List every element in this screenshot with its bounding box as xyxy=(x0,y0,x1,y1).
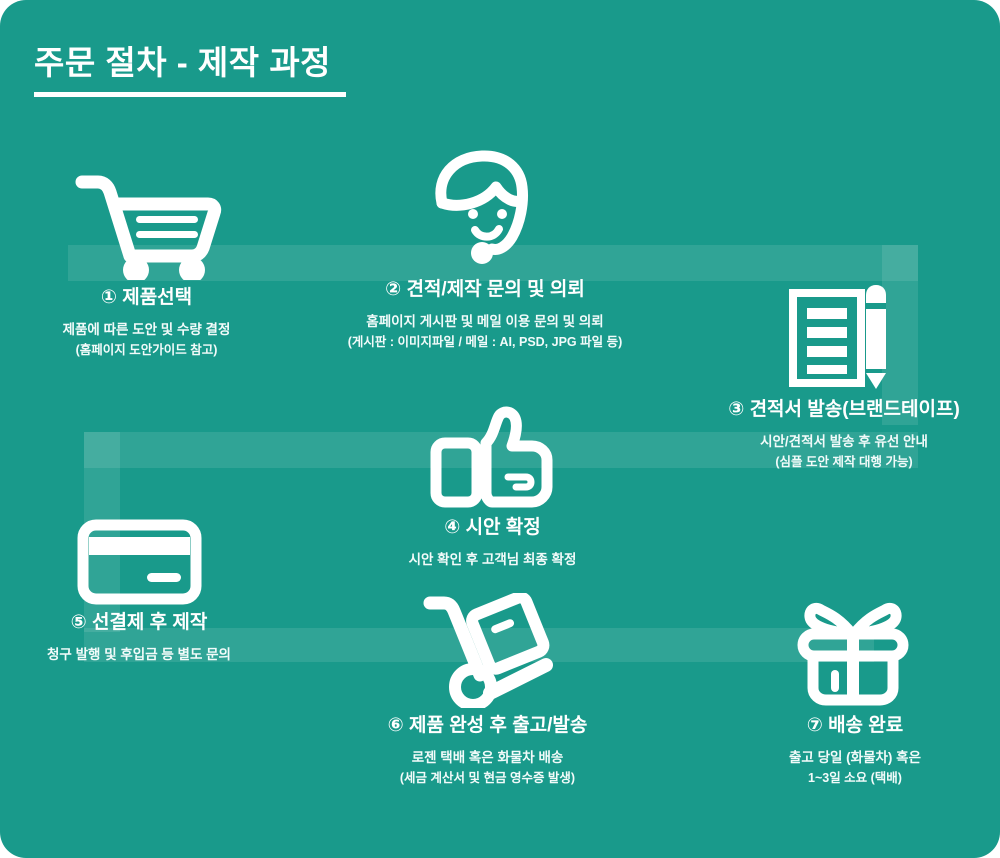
step-7: ⑦ 배송 완료 출고 당일 (화물차) 혹은 1~3일 소요 (택배) xyxy=(715,588,995,788)
step-5-desc-line1: 청구 발행 및 후입금 등 별도 문의 xyxy=(47,647,231,662)
step-4: ④ 시안 확정 시안 확인 후 고객님 최종 확정 xyxy=(345,390,640,571)
step-7-desc: 출고 당일 (화물차) 혹은 1~3일 소요 (택배) xyxy=(715,748,995,788)
hand-truck-box-icon xyxy=(340,588,635,708)
step-1-desc-line2: (홈페이지 도안가이드 참고) xyxy=(14,341,279,360)
step-4-desc-line1: 시안 확인 후 고객님 최종 확정 xyxy=(409,552,577,567)
step-3: ③ 견적서 발송(브랜드테이프) 시안/견적서 발송 후 유선 안내 (심플 도… xyxy=(690,272,998,472)
step-2-title: ② 견적/제작 문의 및 의뢰 xyxy=(330,278,640,303)
step-7-desc-line2: 1~3일 소요 (택배) xyxy=(715,769,995,788)
step-1-desc: 제품에 따른 도안 및 수량 결정 (홈페이지 도안가이드 참고) xyxy=(14,320,279,360)
step-6: ⑥ 제품 완성 후 출고/발송 로젠 택배 혹은 화물차 배송 (세금 계산서 … xyxy=(340,588,635,788)
step-3-title: ③ 견적서 발송(브랜드테이프) xyxy=(690,398,998,423)
step-5: ⑤ 선결제 후 제작 청구 발행 및 후입금 등 별도 문의 xyxy=(0,485,280,666)
page-title: 주문 절차 - 제작 과정 xyxy=(34,42,346,97)
credit-card-icon xyxy=(0,485,280,605)
step-3-desc-line1: 시안/견적서 발송 후 유선 안내 xyxy=(760,434,928,449)
step-1: ① 제품선택 제품에 따른 도안 및 수량 결정 (홈페이지 도안가이드 참고) xyxy=(14,160,279,360)
step-6-desc: 로젠 택배 혹은 화물차 배송 (세금 계산서 및 현금 영수증 발생) xyxy=(340,748,635,788)
order-process-infographic: 주문 절차 - 제작 과정 ① 제품선택 제품에 따른 도안 및 수량 결정 (… xyxy=(0,0,1000,858)
step-4-title: ④ 시안 확정 xyxy=(345,516,640,541)
step-6-desc-line1: 로젠 택배 혹은 화물차 배송 xyxy=(412,750,564,765)
step-6-desc-line2: (세금 계산서 및 현금 영수증 발생) xyxy=(340,769,635,788)
step-5-title: ⑤ 선결제 후 제작 xyxy=(0,611,280,636)
step-7-title: ⑦ 배송 완료 xyxy=(715,714,995,739)
step-2: ② 견적/제작 문의 및 의뢰 홈페이지 게시판 및 메일 이용 문의 및 의뢰… xyxy=(330,152,640,352)
step-2-desc-line1: 홈페이지 게시판 및 메일 이용 문의 및 의뢰 xyxy=(366,314,603,329)
step-3-desc: 시안/견적서 발송 후 유선 안내 (심플 도안 제작 대행 가능) xyxy=(690,432,998,472)
step-5-desc: 청구 발행 및 후입금 등 별도 문의 xyxy=(0,645,280,666)
step-7-desc-line1: 출고 당일 (화물차) 혹은 xyxy=(789,750,921,765)
step-6-title: ⑥ 제품 완성 후 출고/발송 xyxy=(340,714,635,739)
thumbs-up-icon xyxy=(345,390,640,510)
title-underline xyxy=(34,92,346,97)
step-2-desc-line2: (게시판 : 이미지파일 / 메일 : AI, PSD, JPG 파일 등) xyxy=(330,333,640,352)
step-1-title: ① 제품선택 xyxy=(14,286,279,311)
step-3-desc-line2: (심플 도안 제작 대행 가능) xyxy=(690,453,998,472)
customer-service-agent-icon xyxy=(330,152,640,272)
shopping-cart-icon xyxy=(14,160,279,280)
document-pencil-icon xyxy=(690,272,998,392)
step-1-desc-line1: 제품에 따른 도안 및 수량 결정 xyxy=(63,322,231,337)
gift-box-icon xyxy=(715,588,995,708)
step-2-desc: 홈페이지 게시판 및 메일 이용 문의 및 의뢰 (게시판 : 이미지파일 / … xyxy=(330,312,640,352)
page-title-text: 주문 절차 - 제작 과정 xyxy=(34,42,346,83)
step-4-desc: 시안 확인 후 고객님 최종 확정 xyxy=(345,550,640,571)
